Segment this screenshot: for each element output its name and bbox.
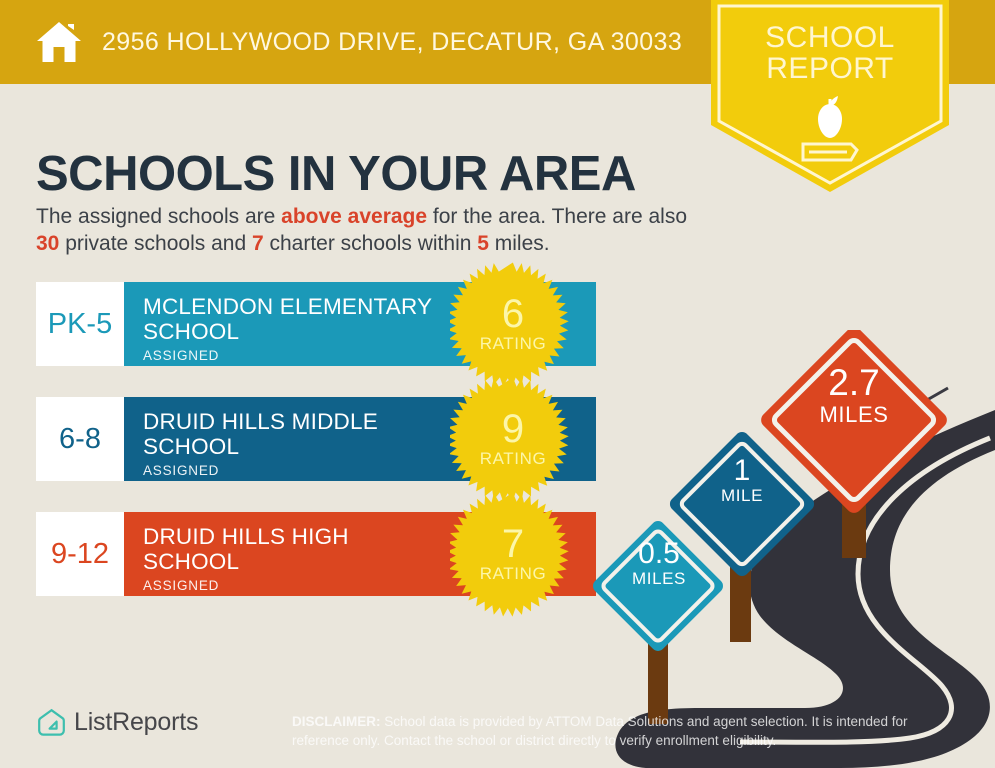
starburst-shape: [450, 262, 569, 386]
page-subtitle: The assigned schools are above average f…: [36, 203, 716, 257]
school-list: PK-5 MCLENDON ELEMENTARY SCHOOL ASSIGNED…: [36, 282, 596, 627]
school-name: DRUID HILLS HIGH SCHOOL: [143, 524, 443, 574]
school-row[interactable]: 6-8 DRUID HILLS MIDDLE SCHOOL ASSIGNED 9…: [36, 397, 596, 481]
school-row[interactable]: 9-12 DRUID HILLS HIGH SCHOOL ASSIGNED 7 …: [36, 512, 596, 596]
rating-badge: 6 RATING: [450, 261, 576, 387]
school-name: DRUID HILLS MIDDLE SCHOOL: [143, 409, 443, 459]
house-icon: [36, 20, 82, 64]
subtitle-highlight-private-count: 30: [36, 232, 59, 255]
subtitle-highlight-rating: above average: [281, 205, 427, 228]
subtitle-part-1: The assigned schools are: [36, 205, 281, 228]
listreports-wordmark: ListReports: [74, 708, 198, 737]
subtitle-part-5: miles.: [489, 232, 550, 255]
disclaimer-label: DISCLAIMER:: [292, 714, 381, 729]
property-address: 2956 HOLLYWOOD DRIVE, DECATUR, GA 30033: [102, 28, 682, 57]
grade-range-label: 6-8: [59, 423, 101, 456]
listreports-house-tag-icon: [38, 708, 65, 737]
school-row[interactable]: PK-5 MCLENDON ELEMENTARY SCHOOL ASSIGNED…: [36, 282, 596, 366]
rating-badge: 9 RATING: [450, 376, 576, 502]
page-title: SCHOOLS IN YOUR AREA: [36, 146, 636, 202]
grade-range-box: 9-12: [36, 512, 124, 596]
starburst-shape: [450, 492, 569, 616]
disclaimer-text: DISCLAIMER: School data is provided by A…: [292, 712, 952, 750]
subtitle-highlight-radius: 5: [477, 232, 489, 255]
road-scene-illustration: 0.5 MILES 1 MILE 2.7 MILES: [590, 330, 995, 768]
school-report-infographic: 0.5 MILES 1 MILE 2.7 MILES 2956 HOLLYWOO…: [0, 0, 995, 768]
header-content: 2956 HOLLYWOOD DRIVE, DECATUR, GA 30033: [36, 0, 682, 84]
subtitle-part-3: private schools and: [59, 232, 252, 255]
starburst-shape: [450, 377, 569, 501]
grade-range-box: PK-5: [36, 282, 124, 366]
subtitle-part-4: charter schools within: [264, 232, 478, 255]
school-name: MCLENDON ELEMENTARY SCHOOL: [143, 294, 443, 344]
subtitle-part-2: for the area. There are also: [427, 205, 687, 228]
subtitle-highlight-charter-count: 7: [252, 232, 264, 255]
disclaimer-body: School data is provided by ATTOM Data So…: [292, 714, 908, 748]
rating-badge: 7 RATING: [450, 491, 576, 617]
grade-range-box: 6-8: [36, 397, 124, 481]
grade-range-label: PK-5: [48, 308, 112, 341]
listreports-logo[interactable]: ListReports: [38, 708, 198, 737]
school-report-ribbon: SCHOOL REPORT: [711, 0, 949, 192]
grade-range-label: 9-12: [51, 538, 109, 571]
